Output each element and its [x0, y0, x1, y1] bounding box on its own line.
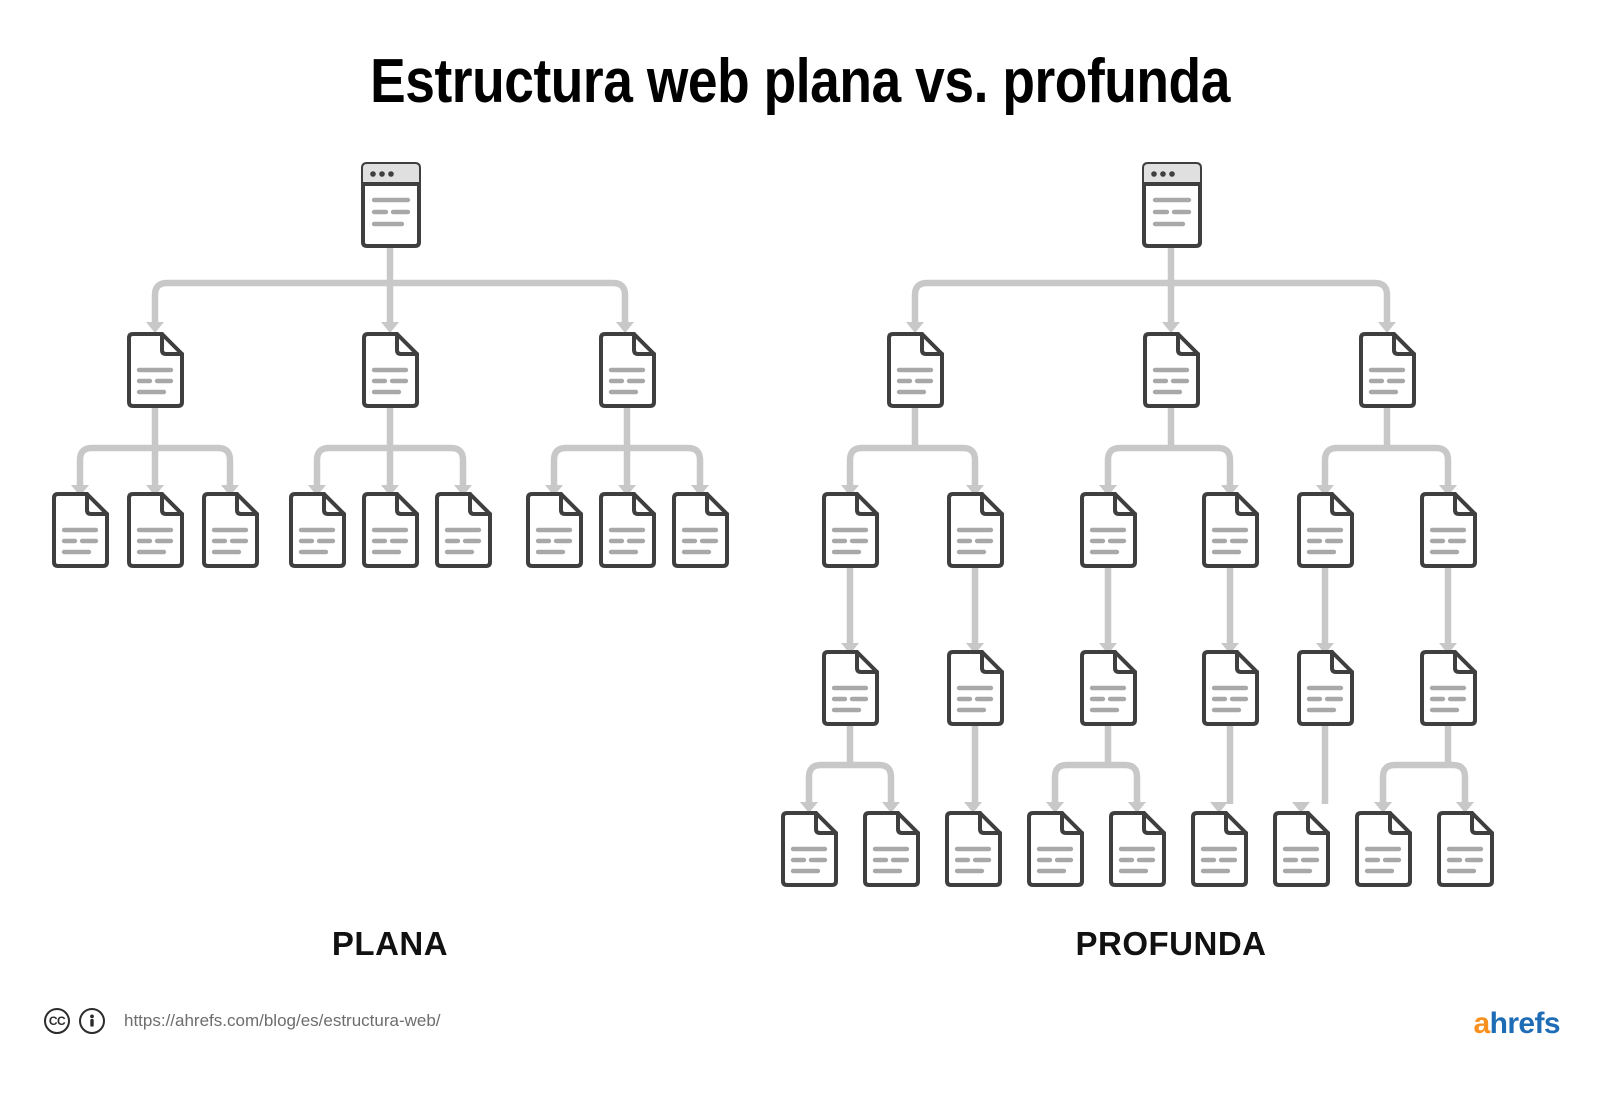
document-icon[interactable] [1204, 652, 1259, 725]
cc-badge-label: CC [49, 1015, 65, 1027]
document-icon[interactable] [865, 813, 920, 886]
footer: CC https://ahrefs.com/blog/es/estructura… [44, 1008, 441, 1034]
source-url[interactable]: https://ahrefs.com/blog/es/estructura-we… [124, 1011, 441, 1031]
document-icon[interactable] [1204, 494, 1259, 567]
document-icon[interactable] [54, 494, 109, 567]
document-icon[interactable] [889, 334, 944, 407]
diagram-canvas: Estructura web plana vs. profunda [0, 0, 1600, 1114]
person-glyph [84, 1013, 100, 1029]
document-icon[interactable] [528, 494, 583, 567]
document-icon[interactable] [1082, 494, 1137, 567]
document-icon[interactable] [783, 813, 838, 886]
document-icon[interactable] [1029, 813, 1084, 886]
document-icon[interactable] [949, 494, 1004, 567]
cc-attribution-icon [79, 1008, 105, 1034]
document-icon[interactable] [1299, 652, 1354, 725]
logo-text-hrefs: hrefs [1490, 1007, 1560, 1040]
document-icon[interactable] [204, 494, 259, 567]
document-icon[interactable] [601, 334, 656, 407]
creative-commons-icon: CC [44, 1008, 70, 1034]
logo-letter-a: a [1474, 1007, 1490, 1040]
connector-arrowheads [71, 322, 1474, 813]
document-icon[interactable] [1145, 334, 1200, 407]
document-icon[interactable] [1422, 494, 1477, 567]
document-icon[interactable] [1439, 813, 1494, 886]
document-icon[interactable] [129, 494, 184, 567]
document-icon[interactable] [824, 652, 879, 725]
document-icon[interactable] [291, 494, 346, 567]
caption-plana: PLANA [190, 925, 590, 963]
document-icon[interactable] [1361, 334, 1416, 407]
document-icon[interactable] [949, 652, 1004, 725]
document-icon[interactable] [947, 813, 1002, 886]
document-icon[interactable] [674, 494, 729, 567]
document-icon[interactable] [1299, 494, 1354, 567]
document-icon[interactable] [364, 494, 419, 567]
document-icon[interactable] [1357, 813, 1412, 886]
ahrefs-logo[interactable]: ahrefs [1474, 1007, 1560, 1041]
browser-window-icon[interactable] [363, 164, 421, 247]
document-icon[interactable] [129, 334, 184, 407]
document-icon[interactable] [1193, 813, 1248, 886]
document-icon[interactable] [824, 494, 879, 567]
document-icon[interactable] [364, 334, 419, 407]
document-icon[interactable] [1111, 813, 1166, 886]
document-icon[interactable] [601, 494, 656, 567]
document-icon[interactable] [1422, 652, 1477, 725]
browser-window-icon[interactable] [1144, 164, 1202, 247]
document-icon[interactable] [1082, 652, 1137, 725]
caption-profunda: PROFUNDA [971, 925, 1371, 963]
flat-tree [54, 164, 729, 567]
document-icon[interactable] [1275, 813, 1330, 886]
document-icon[interactable] [437, 494, 492, 567]
